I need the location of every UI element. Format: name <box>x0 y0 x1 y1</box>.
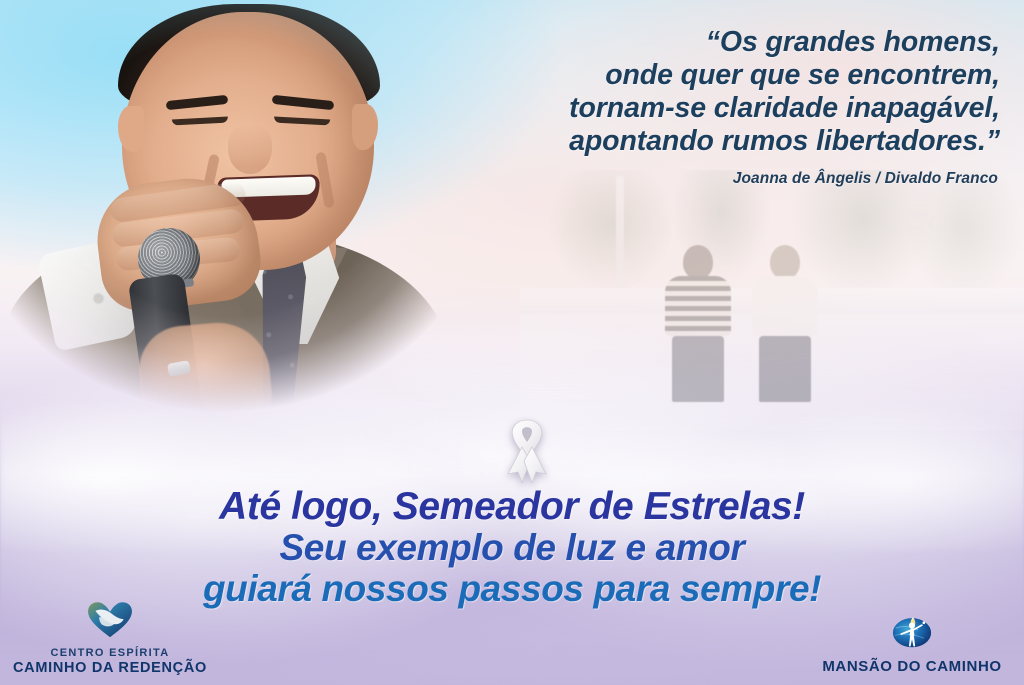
quote-line-3: tornam-se claridade inapagável, <box>440 92 1000 125</box>
figure-legs <box>672 336 724 402</box>
white-ribbon-icon <box>492 414 562 486</box>
scene-pole <box>616 176 624 294</box>
portrait-photo <box>0 0 460 424</box>
quote-line-4: apontando rumos libertadores.” <box>440 125 1000 158</box>
portrait-ear-right <box>352 104 378 150</box>
figure-head <box>770 245 800 279</box>
logo-centro-espirita: CENTRO ESPÍRITA CAMINHO DA REDENÇÃO <box>10 599 210 677</box>
portrait-nose <box>228 124 272 174</box>
scene-figure-white-shirt <box>752 245 818 402</box>
quote-line-2: onde quer que se encontrem, <box>440 59 1000 92</box>
message-line-1: Até logo, Semeador de Estrelas! <box>0 486 1024 528</box>
portrait-cuff-button <box>94 294 103 303</box>
quote-text: “Os grandes homens, onde quer que se enc… <box>440 26 1000 158</box>
portrait-ear-left <box>118 106 144 152</box>
globe-figure-flame-icon <box>812 610 1012 655</box>
quote-line-1: “Os grandes homens, <box>440 26 1000 59</box>
message-line-2: Seu exemplo de luz e amor <box>0 528 1024 568</box>
logo-right-line-2: MANSÃO DO CAMINHO <box>812 658 1012 675</box>
background-scene-two-men <box>520 170 1024 430</box>
figure-legs <box>759 336 811 402</box>
logo-mansao-do-caminho: MANSÃO DO CAMINHO <box>812 610 1012 675</box>
heart-hands-icon <box>10 599 210 644</box>
quote-attribution: Joanna de Ângelis / Divaldo Franco <box>438 170 998 188</box>
logo-left-line-1: CENTRO ESPÍRITA <box>10 647 210 660</box>
portrait-feathered-mask <box>0 0 460 424</box>
memorial-poster: “Os grandes homens, onde quer que se enc… <box>0 0 1024 685</box>
figure-head <box>683 245 713 279</box>
main-message: Até logo, Semeador de Estrelas! Seu exem… <box>0 486 1024 609</box>
logo-left-line-2: CAMINHO DA REDENÇÃO <box>10 660 210 677</box>
scene-figure-striped-shirt <box>665 245 731 402</box>
figure-torso <box>752 276 818 336</box>
figure-torso <box>665 276 731 336</box>
